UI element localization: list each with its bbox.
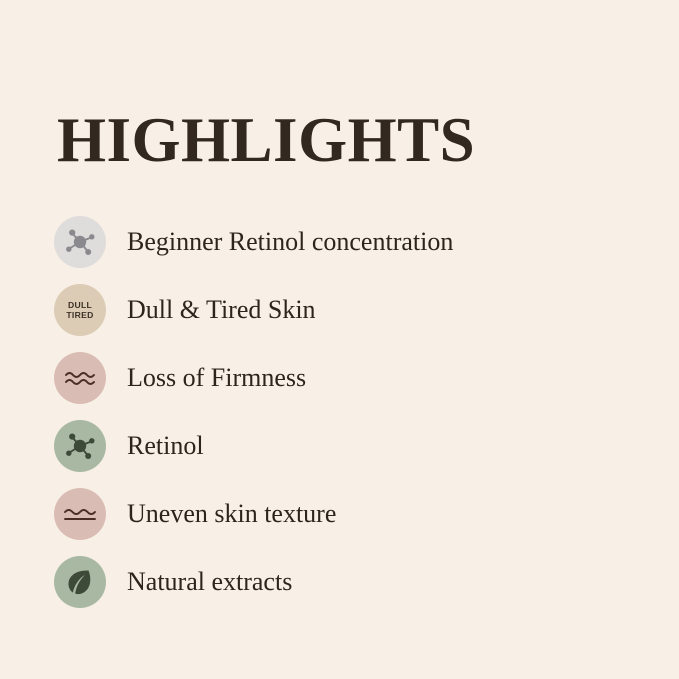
molecule-icon: [54, 420, 106, 472]
highlights-panel: HIGHLIGHTS: [0, 0, 679, 679]
list-item: Beginner Retinol concentration: [54, 216, 634, 268]
list-item-label: Loss of Firmness: [127, 363, 306, 393]
list-item-label: Beginner Retinol concentration: [127, 227, 453, 257]
list-item-label: Natural extracts: [127, 567, 292, 597]
list-item-label: Dull & Tired Skin: [127, 295, 316, 325]
page-title: HIGHLIGHTS: [57, 106, 475, 174]
highlight-list: Beginner Retinol concentration DULL TIRE…: [54, 216, 634, 608]
list-item-label: Uneven skin texture: [127, 499, 336, 529]
list-item: DULL TIRED Dull & Tired Skin: [54, 284, 634, 336]
wave-over-line-icon: [54, 488, 106, 540]
list-item: Retinol: [54, 420, 634, 472]
badge-text-line-1: DULL: [68, 300, 92, 310]
dull-tired-text: DULL TIRED: [66, 300, 93, 320]
list-item: Loss of Firmness: [54, 352, 634, 404]
molecule-icon: [54, 216, 106, 268]
double-wave-icon: [54, 352, 106, 404]
list-item-label: Retinol: [127, 431, 204, 461]
list-item: Natural extracts: [54, 556, 634, 608]
leaf-icon: [54, 556, 106, 608]
list-item: Uneven skin texture: [54, 488, 634, 540]
badge-text-line-2: TIRED: [66, 310, 93, 320]
dull-tired-text-badge: DULL TIRED: [54, 284, 106, 336]
